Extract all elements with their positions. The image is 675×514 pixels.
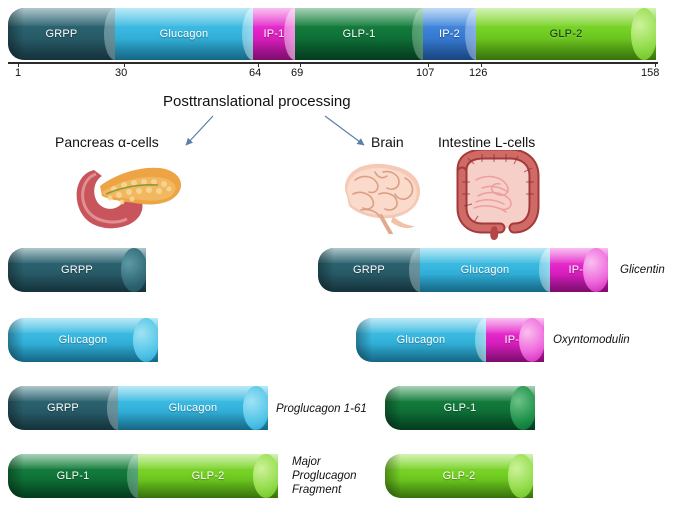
right-cap [519, 318, 544, 362]
intestine-illustration [448, 150, 544, 242]
right-cap [243, 386, 268, 430]
segment-ip1: IP-1 [550, 248, 608, 292]
right-cap [121, 248, 146, 292]
label-line: Proglucagon [292, 469, 357, 483]
arrow-to-brain [325, 116, 364, 145]
product-label-glicentin: Glicentin [620, 263, 665, 277]
segment-label: GLP-1 [295, 28, 423, 40]
label-line: Major [292, 455, 357, 469]
tissue-label-intestine: Intestine L-cells [438, 134, 535, 150]
right-cap [583, 248, 608, 292]
segment-ip1: IP-1 [486, 318, 544, 362]
product-label-oxyntomodulin: Oxyntomodulin [553, 333, 630, 347]
brain-illustration [331, 156, 429, 234]
right-cap [253, 454, 278, 498]
segment-glucagon: Glucagon [356, 318, 486, 362]
product-label-proglucagon-1-61: Proglucagon 1-61 [276, 402, 367, 416]
segment-glp2: GLP-2 [385, 454, 533, 498]
segment-grpp: GRPP [318, 248, 420, 292]
product-bar-glp1: GLP-1 [385, 386, 535, 430]
product-label-major-proglucagon-fragment: Major Proglucagon Fragment [292, 455, 357, 497]
segment-label: IP-2 [423, 28, 476, 40]
segment-glp1: GLP-1 [385, 386, 535, 430]
tissue-label-pancreas: Pancreas α-cells [55, 134, 159, 150]
segment-glucagon: Glucagon [118, 386, 268, 430]
segment-label: GRPP [8, 402, 118, 414]
right-cap [508, 454, 533, 498]
product-bar-glp2: GLP-2 [385, 454, 533, 498]
segment-glucagon: Glucagon [8, 318, 158, 362]
segment-label: Glucagon [356, 334, 486, 346]
segment-label: GLP-2 [476, 28, 656, 40]
product-bar-glucagon: Glucagon [8, 318, 158, 362]
segment-grpp: GRPP [8, 248, 146, 292]
segment-label: GLP-1 [8, 470, 138, 482]
product-bar-oxyntomodulin: Glucagon IP-1 [356, 318, 544, 362]
segment-label: IP-1 [253, 28, 295, 40]
segment-label: GRPP [8, 28, 115, 40]
pancreas-illustration [62, 152, 190, 240]
segment-glp2: GLP-2 [138, 454, 278, 498]
product-bar-glicentin: GRPP Glucagon IP-1 [318, 248, 608, 292]
product-bar-grpp: GRPP [8, 248, 146, 292]
segment-label: Glucagon [115, 28, 253, 40]
right-cap [133, 318, 158, 362]
segment-glucagon: Glucagon [420, 248, 550, 292]
product-bar-major-proglucagon-fragment: GLP-1 GLP-2 [8, 454, 278, 498]
label-line: Fragment [292, 483, 357, 497]
right-cap [631, 8, 656, 60]
segment-label: Glucagon [420, 264, 550, 276]
segment-grpp: GRPP [8, 386, 118, 430]
right-cap [510, 386, 535, 430]
product-bar-proglucagon-1-61: GRPP Glucagon [8, 386, 268, 430]
tissue-label-brain: Brain [371, 134, 404, 150]
arrow-to-pancreas [186, 116, 213, 145]
segment-label: GRPP [318, 264, 420, 276]
segment-glp1: GLP-1 [8, 454, 138, 498]
proglucagon-processing-diagram: GRPP Glucagon IP-1 GLP-1 IP-2 GLP-2 1 30… [0, 0, 675, 514]
